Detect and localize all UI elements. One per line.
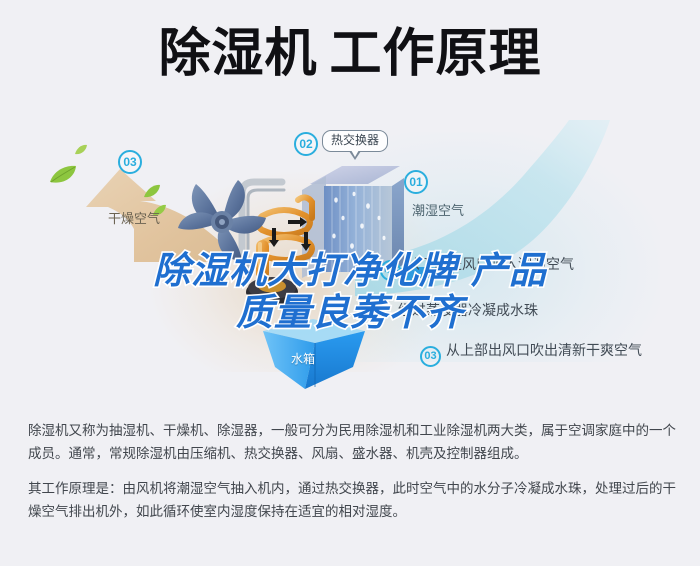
fan-blades-icon	[170, 170, 274, 270]
badge-03-dry-air: 03	[118, 150, 142, 174]
caption-text-01: 从下部进风口吸入潮湿空气	[406, 257, 574, 273]
title-part-principle: 工作原理	[330, 24, 542, 84]
leaf-icon-mid	[143, 184, 161, 199]
caption-text-02: 经过蒸发器冷凝成水珠	[398, 303, 538, 319]
caption-badge-03: 03	[420, 346, 441, 367]
badge-01-moist-air: 01	[404, 170, 428, 194]
page-title: 除湿机工作原理	[0, 24, 700, 84]
caption-step-02: 经过蒸发器冷凝成水珠	[398, 302, 538, 320]
title-part-product: 除湿机	[158, 24, 317, 84]
leaf-icon-small	[74, 144, 88, 156]
caption-step-03: 03从上部出风口吹出清新干爽空气	[420, 342, 642, 367]
paragraph-principle: 其工作原理是：由风机将潮湿空气抽入机内，通过热交换器，此时空气中的水分子冷凝成水…	[28, 478, 678, 524]
paragraph-definition: 除湿机又称为抽湿机、干燥机、除湿器，一般可分为民用除湿机和工业除湿机两大类，属于…	[28, 420, 678, 466]
body-text-block: 除湿机又称为抽湿机、干燥机、除湿器，一般可分为民用除湿机和工业除湿机两大类，属于…	[28, 420, 678, 524]
label-dry-air: 干燥空气	[108, 208, 160, 227]
label-water-tank: 水箱	[291, 350, 315, 367]
caption-step-01: 01从下部进风口吸入潮湿空气	[380, 256, 574, 281]
caption-badge-01: 01	[380, 260, 401, 281]
callout-heat-exchanger: 热交换器	[322, 130, 388, 152]
badge-02-heat-exchanger: 02	[294, 132, 318, 156]
page-root: 除湿机工作原理	[0, 0, 700, 566]
illustration-diagram: 03 02 01 热交换器 干燥空气 潮湿空气 水箱 01从下部进风口吸入潮湿空…	[0, 112, 700, 402]
caption-text-03: 从上部出风口吹出清新干爽空气	[446, 343, 642, 359]
label-moist-air: 潮湿空气	[412, 200, 464, 219]
leaf-icon	[48, 164, 78, 186]
